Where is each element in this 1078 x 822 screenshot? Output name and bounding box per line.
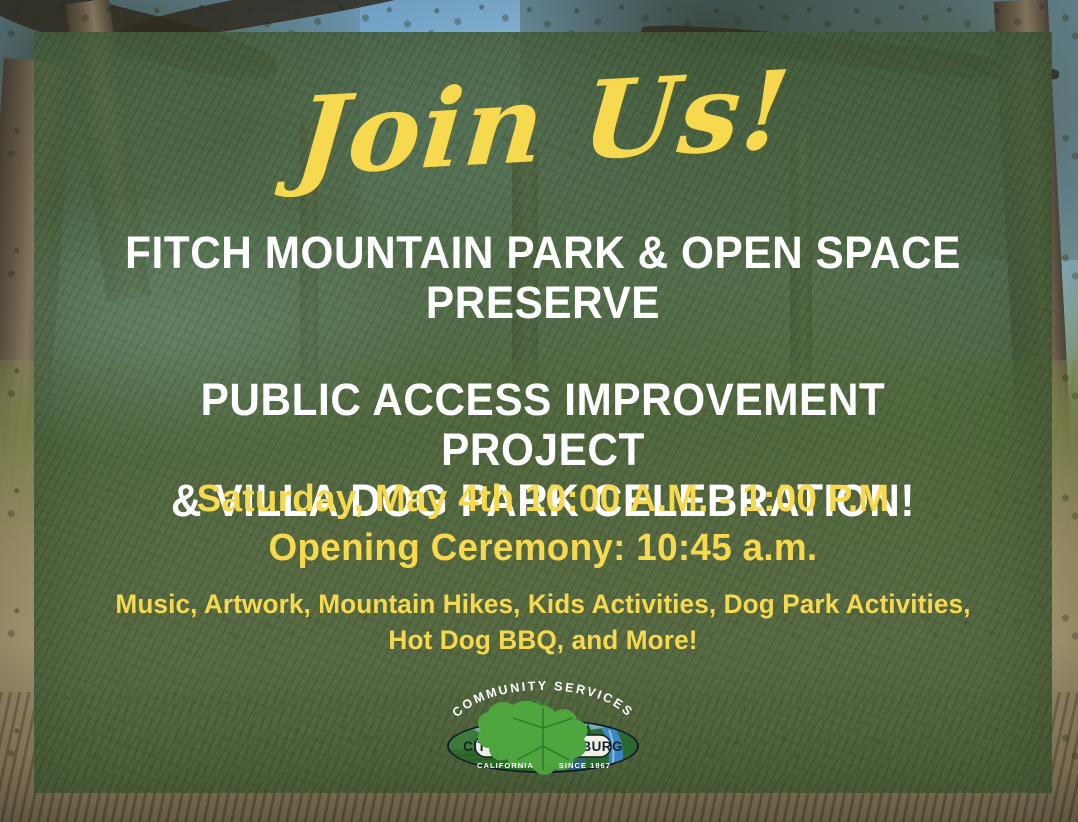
date-time-block: Saturday, May 4th 10:00 A.M. - 1:00 P.M … — [74, 475, 1012, 572]
city-of-healdsburg-logo: COMMUNITY SERVICES — [433, 672, 653, 794]
event-name-line2: PRESERVE — [102, 278, 984, 328]
activities-line-1: Music, Artwork, Mountain Hikes, Kids Act… — [73, 587, 1014, 623]
opening-ceremony-time: Opening Ceremony: 10:45 a.m. — [88, 524, 998, 573]
activities-line-2: Hot Dog BBQ, and More! — [73, 623, 1014, 659]
flyer-content: Join Us! FITCH MOUNTAIN PARK & OPEN SPAC… — [34, 32, 1052, 793]
activities-block: Music, Artwork, Mountain Hikes, Kids Act… — [58, 587, 1028, 658]
logo-state-text: CALIFORNIA — [477, 761, 534, 770]
event-flyer: Join Us! FITCH MOUNTAIN PARK & OPEN SPAC… — [0, 0, 1078, 822]
event-name-line1: FITCH MOUNTAIN PARK & OPEN SPACE — [102, 228, 984, 278]
logo-since-text: SINCE 1867 — [559, 761, 611, 770]
event-date-time: Saturday, May 4th 10:00 A.M. - 1:00 P.M — [88, 475, 998, 524]
project-name-line1: PUBLIC ACCESS IMPROVEMENT PROJECT — [102, 375, 984, 476]
join-us-title: Join Us! — [26, 40, 1060, 210]
